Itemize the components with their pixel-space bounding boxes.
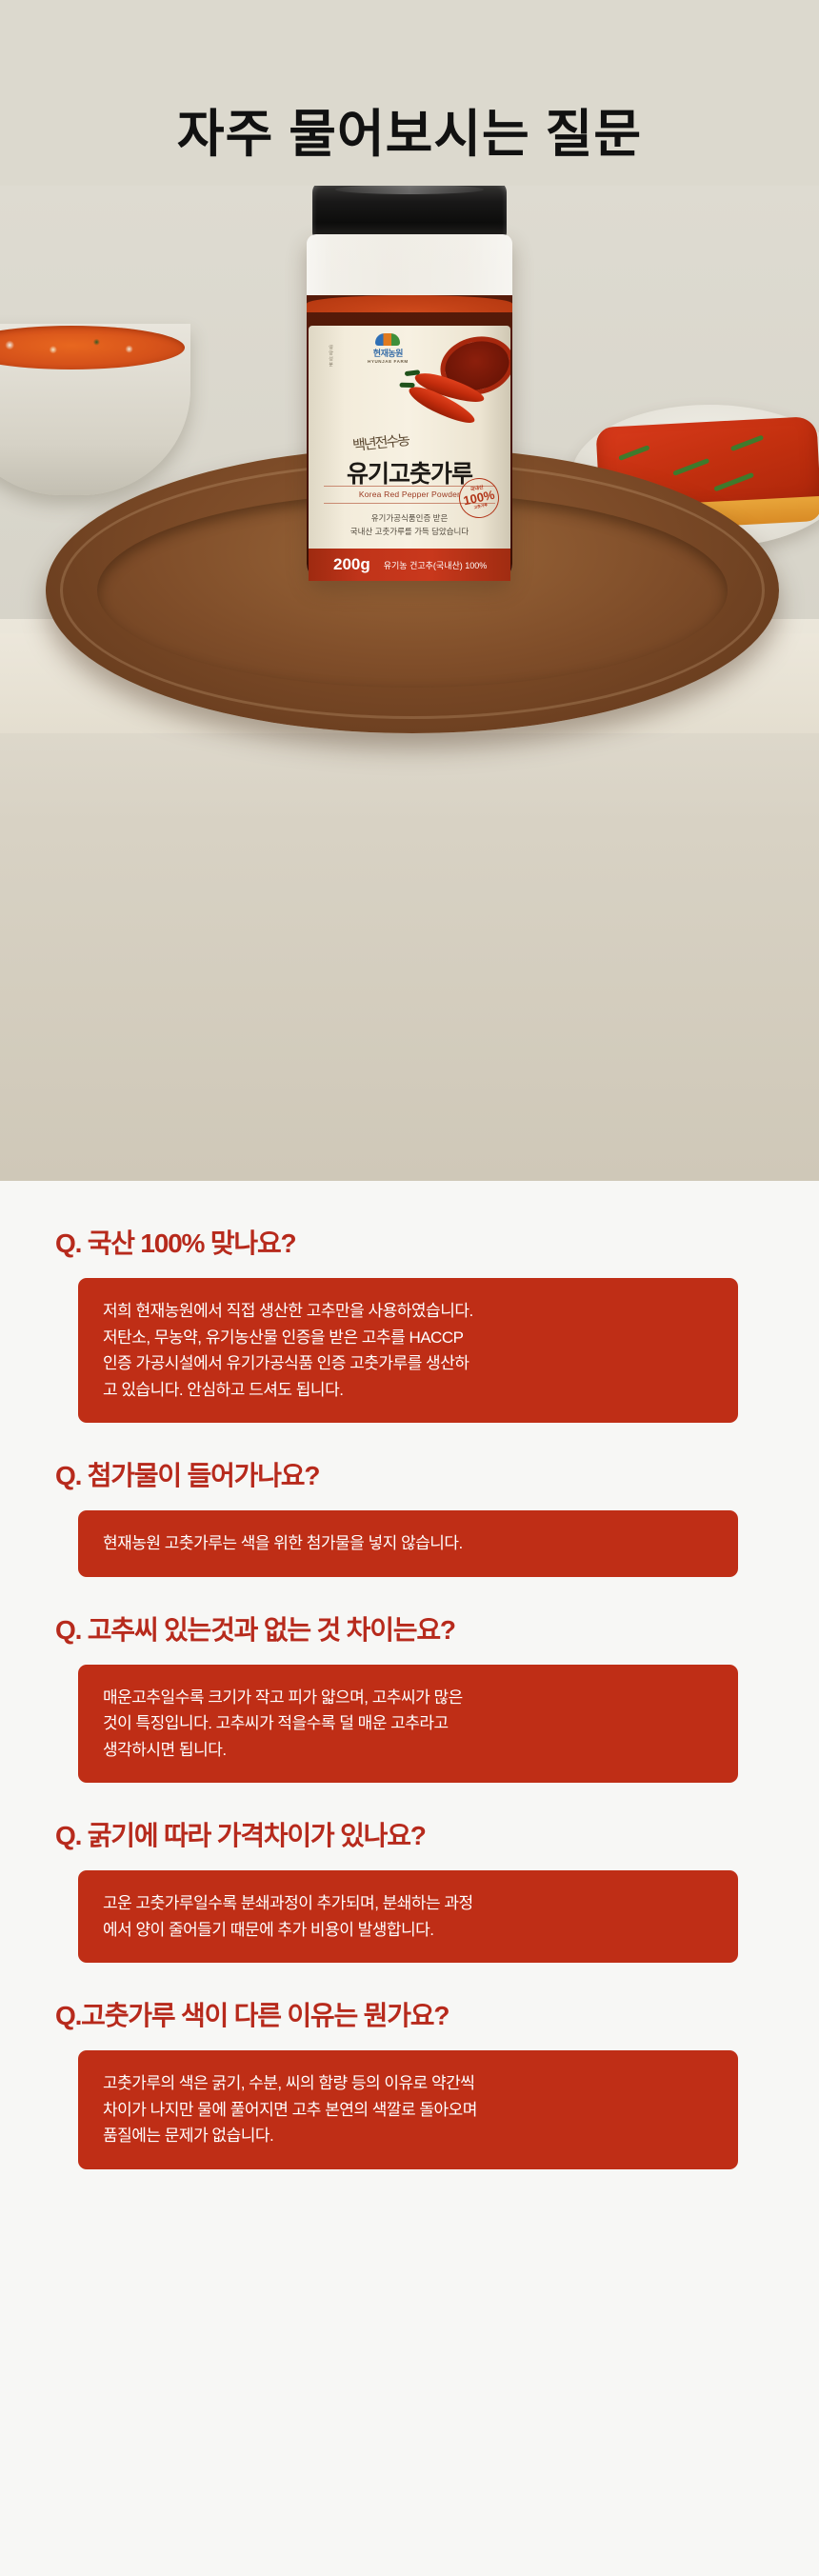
faq-answer-line: 것이 특징입니다. 고추씨가 적을수록 덜 매운 고추라고 [103,1710,713,1737]
faq-question: Q. 고추씨 있는것과 없는 것 차이는요? [55,1609,819,1647]
product-label: 영양성분 현재농원 HYUNJAE FARM 백년전수농 유기고춧 [309,326,510,554]
faq-answer-line: 저탄소, 무농약, 유기농산물 인증을 받은 고추를 HACCP [103,1325,713,1351]
scallion-garnish [672,458,709,476]
faq-section: Q. 국산 100% 맞나요? 저희 현재농원에서 직접 생산한 고추만을 사용… [0,1181,819,2259]
hero-section: 자주 물어보시는 질문 [0,0,819,1181]
label-description-line-2: 국내산 고춧가루를 가득 담았습니다 [309,526,510,537]
faq-item: Q. 굵기에 따라 가격차이가 있나요? 고운 고춧가루일수록 분쇄과정이 추가… [0,1815,819,1963]
faq-answer: 고춧가루의 색은 굵기, 수분, 씨의 함량 등의 이유로 약간씩 차이가 나지… [78,2050,738,2169]
faq-answer-line: 고운 고춧가루일수록 분쇄과정이 추가되며, 분쇄하는 과정 [103,1890,713,1917]
faq-question: Q. 첨가물이 들어가나요? [55,1455,819,1493]
faq-item: Q. 고추씨 있는것과 없는 것 차이는요? 매운고추일수록 크기가 작고 피가… [0,1609,819,1784]
scallion-garnish [618,445,650,461]
faq-answer-line: 고춧가루의 색은 굵기, 수분, 씨의 함량 등의 이유로 약간씩 [103,2070,713,2097]
brand-name-en: HYUNJAE FARM [368,359,409,364]
scallion-garnish [713,472,754,491]
faq-question: Q. 국산 100% 맞나요? [55,1223,819,1261]
faq-item: Q.고춧가루 색이 다른 이유는 뭔가요? 고춧가루의 색은 굵기, 수분, 씨… [0,1995,819,2169]
chili-stem-icon [400,383,415,388]
product-bottle: 영양성분 현재농원 HYUNJAE FARM 백년전수농 유기고춧 [295,186,524,581]
product-photo: 영양성분 현재농원 HYUNJAE FARM 백년전수농 유기고춧 [0,186,819,1181]
brand-logo-mark [375,333,400,346]
faq-question: Q.고춧가루 색이 다른 이유는 뭔가요? [55,1995,819,2033]
faq-answer-line: 차이가 나지만 물에 풀어지면 고추 본연의 색깔로 돌아오며 [103,2097,713,2124]
faq-answer-line: 현재농원 고춧가루는 색을 위한 첨가물을 넣지 않습니다. [103,1530,713,1557]
label-red-band: 200g 유기농 건고추(국내산) 100% [309,549,510,581]
page-title: 자주 물어보시는 질문 [0,91,819,167]
label-side-text: 영양성분 [328,345,334,368]
faq-answer: 현재농원 고춧가루는 색을 위한 첨가물을 넣지 않습니다. [78,1510,738,1577]
chili-illustration [404,337,510,440]
faq-answer-line: 에서 양이 줄어들기 때문에 추가 비용이 발생합니다. [103,1917,713,1944]
faq-item: Q. 국산 100% 맞나요? 저희 현재농원에서 직접 생산한 고추만을 사용… [0,1223,819,1423]
faq-answer: 저희 현재농원에서 직접 생산한 고추만을 사용하였습니다. 저탄소, 무농약,… [78,1278,738,1423]
faq-answer-line: 생각하시면 됩니다. [103,1737,713,1764]
product-weight: 200g [333,555,370,574]
faq-answer: 매운고추일수록 크기가 작고 피가 얇으며, 고추씨가 많은 것이 특징입니다.… [78,1665,738,1784]
brand-name-kr: 현재농원 [368,347,409,359]
label-calligraphy: 백년전수농 [351,429,409,455]
faq-answer-line: 매운고추일수록 크기가 작고 피가 얇으며, 고추씨가 많은 [103,1685,713,1711]
bottle-cap [312,186,507,240]
faq-answer-line: 고 있습니다. 안심하고 드셔도 됩니다. [103,1377,713,1404]
chili-stem-icon [405,369,420,376]
label-description-line-1: 유기가공식품인증 받은 [309,512,510,524]
faq-answer-line: 저희 현재농원에서 직접 생산한 고추만을 사용하였습니다. [103,1298,713,1325]
faq-answer-line: 품질에는 문제가 없습니다. [103,2123,713,2149]
faq-item: Q. 첨가물이 들어가나요? 현재농원 고춧가루는 색을 위한 첨가물을 넣지 … [0,1455,819,1577]
faq-question: Q. 굵기에 따라 가격차이가 있나요? [55,1815,819,1853]
faq-answer-line: 인증 가공시설에서 유기가공식품 인증 고춧가루를 생산하 [103,1350,713,1377]
scallion-garnish [730,435,764,452]
brand-logo: 현재농원 HYUNJAE FARM [368,333,409,364]
product-ingredient: 유기농 건고추(국내산) 100% [384,559,488,571]
faq-answer: 고운 고춧가루일수록 분쇄과정이 추가되며, 분쇄하는 과정 에서 양이 줄어들… [78,1870,738,1963]
